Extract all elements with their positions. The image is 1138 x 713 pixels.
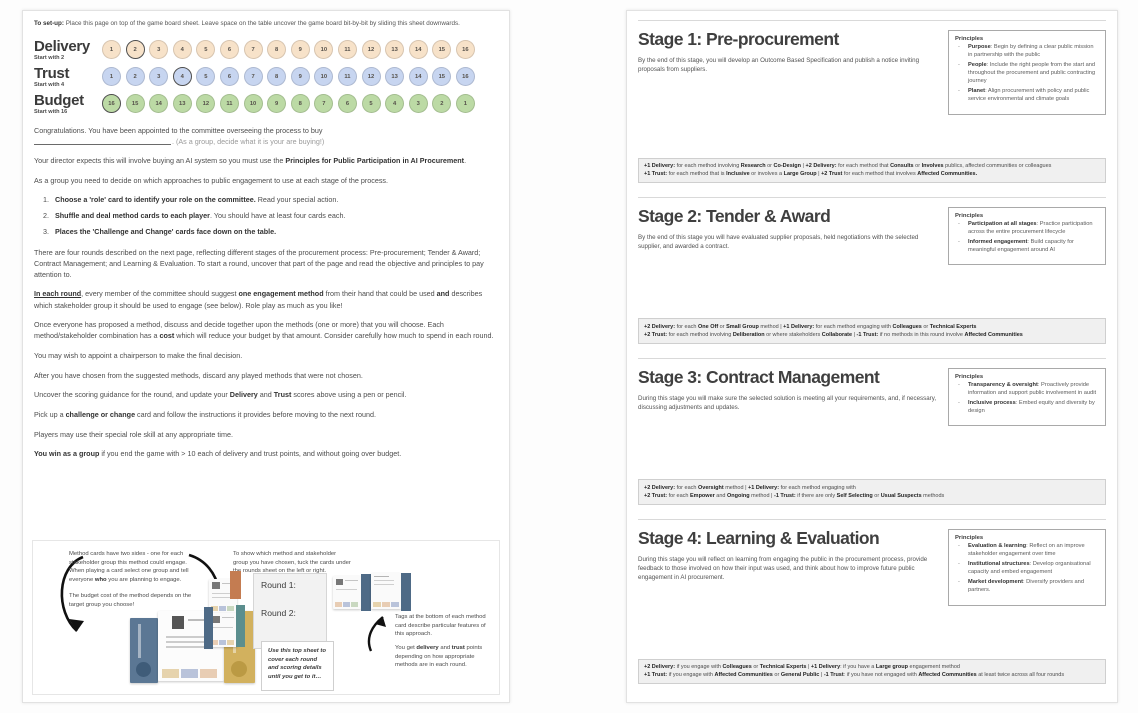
note-method-who: who [95, 577, 107, 583]
uncover-delivery: Delivery [230, 390, 258, 399]
congrats-text: Congratulations. You have been appointed… [34, 126, 323, 135]
score-dot[interactable]: 6 [220, 67, 239, 86]
scoring-text: : if you have not engaged with [844, 672, 919, 678]
track-name: Delivery [34, 39, 102, 54]
uncover-e: scores above using a pen or pencil. [291, 390, 406, 399]
score-dot[interactable]: 4 [173, 40, 192, 59]
step-rest: . You should have at least four cards ea… [210, 211, 345, 220]
principle-name: Purpose [968, 44, 991, 50]
dash-icon: - [958, 239, 960, 247]
uncover-a: Uncover the scoring guidance for the rou… [34, 390, 230, 399]
principles-heading: Principles [955, 374, 1099, 380]
principles-box: Principles-Participation at all stages: … [948, 207, 1106, 265]
scoring-term: Consults [890, 163, 914, 169]
stage-description: By the end of this stage, you will devel… [638, 56, 938, 75]
score-dot[interactable]: 13 [385, 40, 404, 59]
tag-card-2 [371, 573, 401, 609]
principle-item: -People: Include the right people from t… [955, 62, 1099, 86]
scoring-term: Affected Communities [918, 672, 976, 678]
scoring-term: One Off [698, 324, 718, 330]
track-name: Trust [34, 66, 102, 81]
scoring-term: +2 Trust [821, 171, 842, 177]
note-tags-1: Tags at the bottom of each method card d… [395, 613, 495, 639]
principles-box: Principles-Purpose: Begin by defining a … [948, 30, 1106, 115]
principles-box: Principles-Evaluation & learning: Reflec… [948, 529, 1106, 606]
scoring-term: Collaborate [822, 332, 852, 338]
principle-item: -Transparency & oversight: Proactively p… [955, 382, 1099, 398]
stacked-card-spine-a [204, 607, 213, 649]
stage-title: Stage 1: Pre-procurement [638, 30, 938, 49]
scoring-term: Ongoing [727, 493, 750, 499]
round-2-label: Round 2: [254, 590, 326, 618]
score-dot[interactable]: 15 [432, 40, 451, 59]
score-dot[interactable]: 16 [456, 67, 475, 86]
scoring-term: Empower [690, 493, 715, 499]
scoring-text: engagement method [908, 664, 960, 670]
scoring-text: for each method that involves [842, 171, 917, 177]
score-dot[interactable]: 5 [196, 67, 215, 86]
note-tags-trust: trust [452, 645, 465, 651]
stacked-card-2 [209, 613, 237, 647]
note-tags-2c: and [439, 645, 452, 651]
section-divider [638, 358, 1106, 359]
each-round-lead: In each round [34, 289, 81, 298]
scoring-term: Deliberation [733, 332, 765, 338]
stage-description: By the end of this stage you will have e… [638, 233, 938, 252]
principle-item: -Inclusive process: Embed equity and div… [955, 400, 1099, 416]
score-dot[interactable]: 9 [267, 94, 286, 113]
scoring-term: +1 Delivery: [644, 163, 675, 169]
step-rest: Read your special action. [256, 195, 339, 204]
para-decide: As a group you need to decide on which a… [34, 175, 498, 186]
score-dot[interactable]: 4 [385, 94, 404, 113]
score-dot[interactable]: 7 [244, 67, 263, 86]
score-dot[interactable]: 15 [432, 67, 451, 86]
scoring-text: : if you have a [840, 664, 876, 670]
score-dot[interactable]: 9 [291, 40, 310, 59]
principle-name: Informed engagement [968, 239, 1027, 245]
principle-name: Evaluation & learning [968, 543, 1026, 549]
scoring-term: -1 Trust: [774, 493, 796, 499]
each-round-d: and [437, 289, 450, 298]
principles-heading: Principles [955, 36, 1099, 42]
note-tags-2a: You get [395, 645, 416, 651]
score-dot[interactable]: 8 [291, 94, 310, 113]
dash-icon: - [958, 543, 960, 551]
dash-icon: - [958, 561, 960, 569]
score-dot[interactable]: 16 [102, 94, 121, 113]
stacked-card-spine-b [236, 605, 245, 647]
principle-name: Participation at all stages [968, 221, 1037, 227]
track-label-budget: BudgetStart with 16 [34, 93, 102, 115]
score-dot[interactable]: 11 [220, 94, 239, 113]
track-start-value: Start with 2 [34, 55, 102, 61]
principle-name: Inclusive process [968, 400, 1016, 406]
dash-icon: - [958, 579, 960, 587]
tag-card-spine-2 [401, 573, 411, 611]
cover-sheet-note: Use this top sheet to cover each round a… [261, 641, 334, 691]
score-dot[interactable]: 10 [314, 40, 333, 59]
director-text-a: Your director expects this will involve … [34, 156, 285, 165]
principle-item: -Purpose: Begin by defining a clear publ… [955, 44, 1099, 60]
principle-text: : Align procurement with policy and publ… [968, 88, 1089, 102]
scoring-text: if no methods in this round involve [878, 332, 964, 338]
setup-step: Shuffle and deal method cards to each pl… [51, 211, 498, 222]
proposed-c: which will reduce your budget by that am… [174, 331, 493, 340]
score-dot[interactable]: 13 [385, 67, 404, 86]
scoring-guidance-bar: +2 Delivery: if you engage with Colleagu… [638, 659, 1106, 685]
principle-item: -Participation at all stages: Practice p… [955, 221, 1099, 237]
score-dot[interactable]: 5 [196, 40, 215, 59]
scoring-term: +1 Delivery: [783, 324, 814, 330]
track-dots: 12345678910111213141516 [102, 67, 475, 86]
section-divider [638, 519, 1106, 520]
score-dot[interactable]: 2 [126, 67, 145, 86]
challenge-b: challenge or change [66, 410, 136, 419]
scoring-term: Affected Communities [964, 332, 1022, 338]
scoring-term: Usual Suspects [881, 493, 922, 499]
scoring-text: for each [675, 324, 698, 330]
stage-play-space [638, 606, 1106, 650]
cover-sheet-text: Use this top sheet to cover each round a… [268, 647, 327, 682]
challenge-c: card and follow the instructions it prov… [135, 410, 376, 419]
setup-prefix: To set-up: [34, 20, 64, 27]
note-method-cards: Method cards have two sides - one for ea… [69, 550, 192, 585]
score-dot[interactable]: 13 [173, 94, 192, 113]
para-win-condition: You win as a group if you end the game w… [34, 448, 498, 459]
scoring-text: for each method that [837, 163, 891, 169]
principle-item: -Institutional structures: Develop organ… [955, 561, 1099, 577]
scoring-guidance-bar: +2 Delivery: for each One Off or Small G… [638, 318, 1106, 344]
score-dot[interactable]: 1 [456, 94, 475, 113]
setup-instruction: To set-up: Place this page on top of the… [34, 20, 498, 29]
purchase-blank-field[interactable] [34, 144, 171, 145]
dash-icon: - [958, 400, 960, 408]
scoring-term: Oversight [698, 485, 724, 491]
scoring-term: Affected Communities [714, 672, 772, 678]
scoring-term: Inclusive [726, 171, 750, 177]
score-dot[interactable]: 1 [102, 40, 121, 59]
director-text-c: . [464, 156, 466, 165]
principles-reference: Principles for Public Participation in A… [285, 156, 464, 165]
scoring-term: -1 Trust [824, 672, 844, 678]
score-dot[interactable]: 12 [196, 94, 215, 113]
scoring-text: method | [724, 485, 748, 491]
stages-container: Stage 1: Pre-procurementBy the end of th… [627, 11, 1117, 702]
score-track-budget: BudgetStart with 16161514131211109876543… [34, 93, 498, 115]
dash-icon: - [958, 62, 960, 70]
scoring-term: Research [741, 163, 766, 169]
scoring-term: General Public [781, 672, 820, 678]
scoring-text: or [922, 324, 930, 330]
stage-section-4: Stage 4: Learning & EvaluationDuring thi… [638, 519, 1106, 684]
score-dot[interactable]: 15 [126, 94, 145, 113]
note-tags-delivery: delivery [416, 645, 438, 651]
stage-section-3: Stage 3: Contract ManagementDuring this … [638, 358, 1106, 505]
stage-title: Stage 3: Contract Management [638, 368, 938, 387]
scoring-line: +2 Delivery: for each Oversight method |… [644, 484, 1100, 492]
para-each-round: In each round, every member of the commi… [34, 288, 498, 310]
stage-play-space [638, 265, 1106, 309]
track-label-delivery: DeliveryStart with 2 [34, 39, 102, 61]
scoring-text: for each [675, 485, 698, 491]
scoring-line: +2 Trust: for each method involving Deli… [644, 331, 1100, 339]
scoring-term: +1 Delivery [811, 664, 840, 670]
principle-text: : Include the right people from the star… [968, 62, 1095, 84]
para-challenge-card: Pick up a challenge or change card and f… [34, 409, 498, 420]
proposed-cost: cost [159, 331, 174, 340]
note-method-c: you are planning to engage. [107, 577, 182, 583]
para-uncover-scoring: Uncover the scoring guidance for the rou… [34, 389, 498, 400]
track-label-trust: TrustStart with 4 [34, 66, 102, 88]
scoring-term: +1 Trust: [644, 672, 667, 678]
scoring-guidance-bar: +1 Delivery: for each method involving R… [638, 158, 1106, 184]
stage-section-2: Stage 2: Tender & AwardBy the end of thi… [638, 197, 1106, 344]
scoring-line: +2 Delivery: for each One Off or Small G… [644, 323, 1100, 331]
track-dots: 16151413121110987654321 [102, 94, 475, 113]
scoring-term: Technical Experts [760, 664, 807, 670]
score-dot[interactable]: 3 [149, 40, 168, 59]
score-dot[interactable]: 4 [173, 67, 192, 86]
scoring-line: +2 Trust: for each Empower and Ongoing m… [644, 492, 1100, 500]
score-dot[interactable]: 12 [362, 67, 381, 86]
scoring-text: method | [759, 324, 783, 330]
dash-icon: - [958, 221, 960, 229]
scoring-text: if you engage with [675, 664, 722, 670]
note-tags-2: You get delivery and trust points depend… [395, 644, 495, 670]
score-dot[interactable]: 7 [244, 40, 263, 59]
score-track-delivery: DeliveryStart with 212345678910111213141… [34, 39, 498, 61]
tag-card-1 [333, 576, 361, 609]
setup-step: Choose a 'role' card to identify your ro… [51, 195, 498, 206]
scoring-text: method | [750, 493, 774, 499]
stage-description: During this stage you will make sure the… [638, 394, 938, 413]
each-round-c: from their hand that could be used [324, 289, 437, 298]
stage-title: Stage 2: Tender & Award [638, 207, 938, 226]
scoring-term: +1 Delivery: [748, 485, 779, 491]
page-root: To set-up: Place this page on top of the… [0, 0, 1138, 713]
scoring-text: or [873, 493, 881, 499]
scoring-line: +1 Trust: for each method that is Inclus… [644, 170, 1100, 178]
challenge-a: Pick up a [34, 410, 66, 419]
step-bold: Shuffle and deal method cards to each pl… [55, 211, 210, 220]
scoring-text: for each method involving [675, 163, 741, 169]
score-dot[interactable]: 14 [149, 94, 168, 113]
scoring-text: for each method involving [667, 332, 733, 338]
stage-description: During this stage you will reflect on le… [638, 555, 938, 583]
setup-steps-list: Choose a 'role' card to identify your ro… [34, 195, 498, 238]
principle-item: -Market development: Diversify providers… [955, 579, 1099, 595]
score-dot[interactable]: 3 [409, 94, 428, 113]
scoring-text: or [914, 163, 922, 169]
principle-name: Planet [968, 88, 985, 94]
scoring-term: +2 Delivery: [644, 664, 675, 670]
scoring-term: Technical Experts [930, 324, 977, 330]
score-dot[interactable]: 3 [149, 67, 168, 86]
scoring-line: +2 Delivery: if you engage with Colleagu… [644, 663, 1100, 671]
principle-name: Institutional structures [968, 561, 1030, 567]
score-dot[interactable]: 12 [362, 40, 381, 59]
principles-box: Principles-Transparency & oversight: Pro… [948, 368, 1106, 426]
scoring-term: +2 Delivery: [644, 485, 675, 491]
scoring-term: +2 Delivery: [806, 163, 837, 169]
stacked-card-spine-c [230, 571, 241, 599]
scoring-text: for each method that is [667, 171, 726, 177]
scoring-term: Involves [922, 163, 944, 169]
principle-item: -Informed engagement: Build capacity for… [955, 239, 1099, 255]
step-bold: Choose a 'role' card to identify your ro… [55, 195, 256, 204]
scoring-term: Large Group [784, 171, 817, 177]
track-start-value: Start with 16 [34, 109, 102, 115]
score-dot[interactable]: 11 [338, 67, 357, 86]
scoring-text: or involves a [750, 171, 784, 177]
scoring-line: +1 Trust: if you engage with Affected Co… [644, 671, 1100, 679]
scoring-term: Large group [876, 664, 908, 670]
scoring-term: Self Selecting [837, 493, 873, 499]
scoring-text: or where stakeholders [765, 332, 822, 338]
dash-icon: - [958, 382, 960, 390]
para-congratulations: Congratulations. You have been appointed… [34, 125, 498, 147]
scoring-text: for each method engaging with [814, 324, 892, 330]
track-start-value: Start with 4 [34, 82, 102, 88]
principles-heading: Principles [955, 535, 1099, 541]
uncover-trust: Trust [274, 390, 292, 399]
scoring-term: +1 Trust: [644, 171, 667, 177]
note-budget-cost: The budget cost of the method depends on… [69, 592, 192, 609]
principle-item: -Evaluation & learning: Reflect on an im… [955, 543, 1099, 559]
scoring-text: or [766, 163, 774, 169]
principle-name: People [968, 62, 987, 68]
scoring-text: at least twice across all four rounds [977, 672, 1064, 678]
para-chairperson: You may wish to appoint a chairperson to… [34, 350, 498, 361]
score-track-trust: TrustStart with 412345678910111213141516 [34, 66, 498, 88]
principle-name: Transparency & oversight [968, 382, 1038, 388]
principle-name: Market development [968, 579, 1023, 585]
scoring-text: if you engage with [667, 672, 714, 678]
scoring-guidance-bar: +2 Delivery: for each Oversight method |… [638, 479, 1106, 505]
para-director: Your director expects this will involve … [34, 155, 498, 166]
para-rounds: There are four rounds described on the n… [34, 247, 498, 280]
dash-icon: - [958, 44, 960, 52]
para-discard: After you have chosen from the suggested… [34, 370, 498, 381]
score-dot[interactable]: 8 [267, 67, 286, 86]
score-dot[interactable]: 14 [409, 67, 428, 86]
dash-icon: - [958, 88, 960, 96]
stage-section-1: Stage 1: Pre-procurementBy the end of th… [638, 20, 1106, 183]
win-rest: if you end the game with > 10 each of de… [99, 449, 401, 458]
score-dot[interactable]: 16 [456, 40, 475, 59]
scoring-text: methods [922, 493, 945, 499]
principles-heading: Principles [955, 213, 1099, 219]
stage-play-space [638, 426, 1106, 470]
score-dot[interactable]: 10 [314, 67, 333, 86]
scoring-text: or [752, 664, 760, 670]
track-dots: 12345678910111213141516 [102, 40, 475, 59]
scoring-text: or [718, 324, 726, 330]
stage-play-space [638, 115, 1106, 149]
rules-body: Congratulations. You have been appointed… [34, 125, 498, 460]
section-divider [638, 197, 1106, 198]
scoring-text: publics, affected communities or colleag… [944, 163, 1052, 169]
stage-title: Stage 4: Learning & Evaluation [638, 529, 938, 548]
score-dot[interactable]: 10 [244, 94, 263, 113]
method-card-blue [130, 618, 158, 683]
section-divider [638, 20, 1106, 21]
score-dot[interactable]: 14 [409, 40, 428, 59]
uncover-c: and [258, 390, 274, 399]
score-dot[interactable]: 2 [432, 94, 451, 113]
setup-text: Place this page on top of the game board… [64, 20, 460, 27]
score-dot[interactable]: 6 [338, 94, 357, 113]
score-dot[interactable]: 9 [291, 67, 310, 86]
scoring-text: for each [667, 493, 690, 499]
congrats-aside: . (As a group, decide what it is your ar… [172, 137, 324, 146]
scoring-text: if there are only [796, 493, 837, 499]
scoring-term: Co-Design [774, 163, 802, 169]
scoring-term: Colleagues [722, 664, 751, 670]
score-dot[interactable]: 5 [362, 94, 381, 113]
score-tracks: DeliveryStart with 212345678910111213141… [34, 39, 498, 115]
scoring-text: and [715, 493, 727, 499]
rounds-sheet: Round 1: Round 2: [253, 573, 327, 649]
win-lead: You win as a group [34, 449, 99, 458]
right-stages-sheet: Stage 1: Pre-procurementBy the end of th… [626, 10, 1118, 703]
score-dot[interactable]: 7 [314, 94, 333, 113]
setup-step: Places the 'Challenge and Change' cards … [51, 227, 498, 238]
tag-card-spine-1 [361, 574, 371, 611]
scoring-line: +1 Delivery: for each method involving R… [644, 162, 1100, 170]
scoring-term: +2 Trust: [644, 332, 667, 338]
each-round-a: , every member of the committee should s… [81, 289, 238, 298]
round-1-label: Round 1: [254, 574, 326, 590]
score-dot[interactable]: 8 [267, 40, 286, 59]
track-name: Budget [34, 93, 102, 108]
each-round-b: one engagement method [239, 289, 324, 298]
scoring-term: Small Group [726, 324, 759, 330]
card-illustration-panel: Method cards have two sides - one for ea… [32, 540, 500, 695]
step-bold: Places the 'Challenge and Change' cards … [55, 227, 276, 236]
scoring-term: -1 Trust: [857, 332, 879, 338]
score-dot[interactable]: 6 [220, 40, 239, 59]
scoring-text: for each method engaging with [779, 485, 856, 491]
score-dot[interactable]: 11 [338, 40, 357, 59]
para-special-skill: Players may use their special role skill… [34, 429, 498, 440]
principle-item: -Planet: Align procurement with policy a… [955, 88, 1099, 104]
scoring-term: +2 Trust: [644, 493, 667, 499]
score-dot[interactable]: 1 [102, 67, 121, 86]
scoring-term: +2 Delivery: [644, 324, 675, 330]
scoring-term: Colleagues [893, 324, 922, 330]
score-dot[interactable]: 2 [126, 40, 145, 59]
scoring-term: Affected Communities. [917, 171, 977, 177]
para-proposed: Once everyone has proposed a method, dis… [34, 319, 498, 341]
scoring-text: or [773, 672, 781, 678]
